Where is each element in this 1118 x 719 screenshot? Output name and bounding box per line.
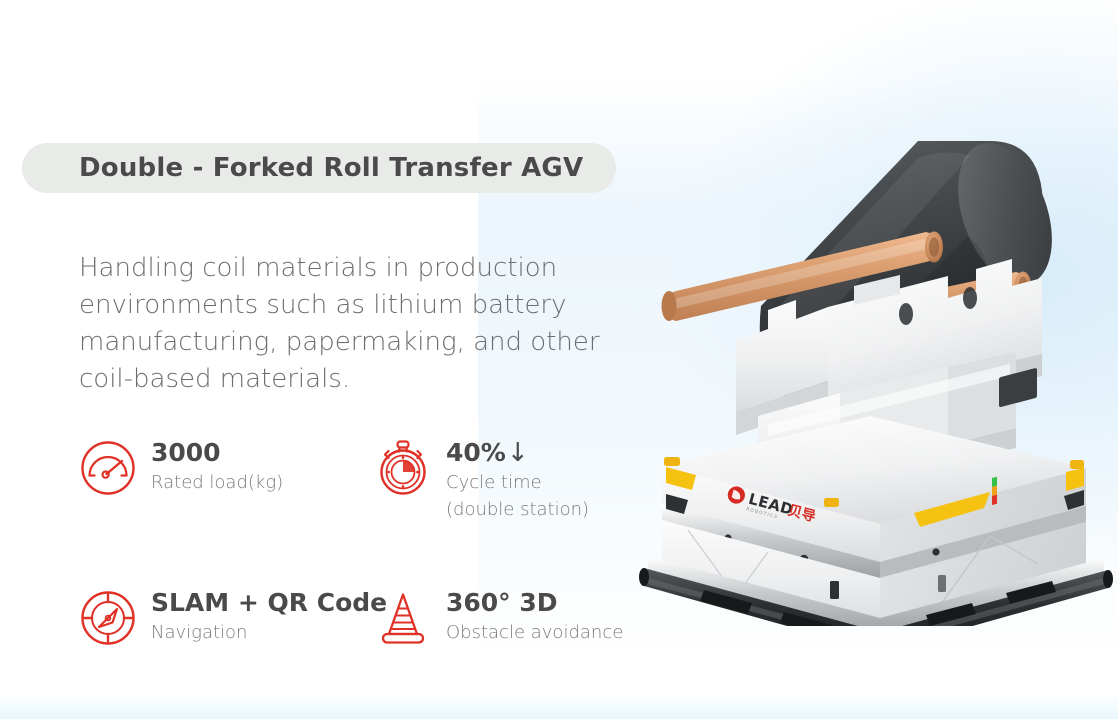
down-arrow-icon: ↓: [507, 440, 529, 466]
traffic-cone-icon: [374, 589, 432, 647]
status-indicator: [992, 477, 997, 505]
spec-value: 360° 3D: [446, 589, 623, 617]
spec-value-number: 3000: [151, 439, 221, 467]
spec-value-number: 360° 3D: [446, 589, 558, 617]
spec-text: 3000 Rated load(kg): [151, 437, 283, 494]
corner-nub-front: [824, 498, 839, 507]
gauge-icon: [79, 439, 137, 497]
spec-row: SLAM + QR Code Navigation 360° 3D Obstac…: [79, 587, 679, 647]
spec-value: SLAM + QR Code: [151, 589, 387, 617]
spec-item-rated-load: 3000 Rated load(kg): [79, 437, 374, 521]
spec-label: Rated load(kg): [151, 471, 283, 494]
spec-text: 40% ↓ Cycle time (double station): [446, 437, 589, 521]
spec-item-obstacle-avoidance: 360° 3D Obstacle avoidance: [374, 587, 623, 647]
spec-label: Navigation: [151, 621, 387, 644]
spec-text: 360° 3D Obstacle avoidance: [446, 587, 623, 644]
spec-grid: 3000 Rated load(kg): [79, 437, 679, 647]
spec-value-number: 40%: [446, 439, 506, 467]
spec-item-navigation: SLAM + QR Code Navigation: [79, 587, 374, 647]
corner-nub-right: [1070, 460, 1084, 469]
title-pill: Double - Forked Roll Transfer AGV: [22, 143, 616, 193]
description-line: Handling coil materials in production: [79, 250, 639, 287]
spec-value: 3000: [151, 439, 283, 467]
spec-value-number: SLAM + QR Code: [151, 589, 387, 617]
product-description: Handling coil materials in production en…: [79, 250, 639, 398]
background-gradient-bottom: [0, 693, 1118, 719]
spec-label: (double station): [446, 498, 589, 521]
spec-text: SLAM + QR Code Navigation: [151, 587, 387, 644]
corner-nub-left: [664, 457, 680, 466]
compass-icon: [79, 589, 137, 647]
page-title: Double - Forked Roll Transfer AGV: [79, 153, 583, 183]
spec-label: Obstacle avoidance: [446, 621, 623, 644]
stopwatch-icon: [374, 439, 432, 497]
spec-label: Cycle time: [446, 471, 589, 494]
spec-item-cycle-time: 40% ↓ Cycle time (double station): [374, 437, 589, 521]
spec-row: 3000 Rated load(kg): [79, 437, 679, 521]
product-image-agv: LEAD 贝导 ROBOTICS: [618, 86, 1118, 626]
description-line: manufacturing, papermaking, and other: [79, 324, 639, 361]
description-line: coil-based materials.: [79, 361, 639, 398]
spec-value: 40% ↓: [446, 439, 589, 467]
description-line: environments such as lithium battery: [79, 287, 639, 324]
